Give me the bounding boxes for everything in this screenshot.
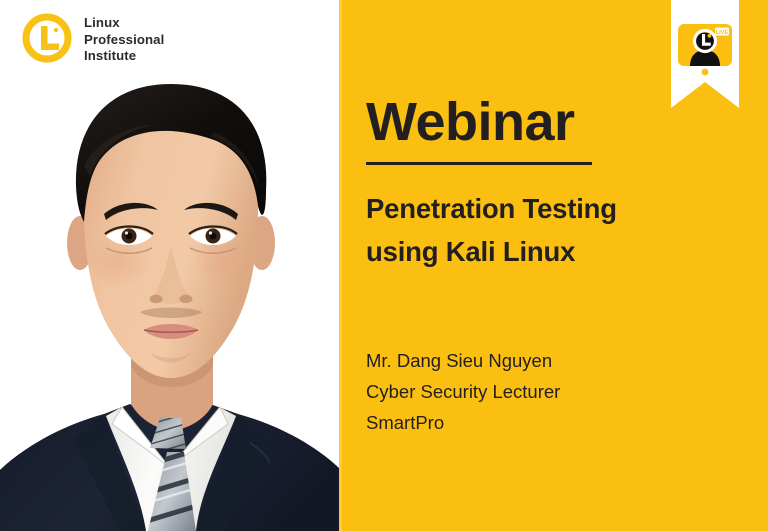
live-badge-label: LIVE: [716, 30, 729, 36]
brand-wordmark: Linux Professional Institute: [84, 15, 164, 65]
content-panel: LIVE Webinar Penetration Testing using K…: [339, 0, 768, 531]
brand-logo-block: Linux Professional Institute: [22, 13, 164, 65]
speaker-portrait-photo: [0, 0, 339, 531]
speaker-details: Mr. Dang Sieu Nguyen Cyber Security Lect…: [366, 345, 746, 438]
brand-line-3: Institute: [84, 48, 164, 65]
speaker-organization: SmartPro: [366, 407, 746, 438]
brand-line-1: Linux: [84, 15, 164, 32]
speaker-role: Cyber Security Lecturer: [366, 376, 746, 407]
page-title: Penetration Testing using Kali Linux: [366, 187, 716, 273]
speaker-name: Mr. Dang Sieu Nguyen: [366, 345, 746, 376]
portrait-panel: Linux Professional Institute: [0, 0, 339, 531]
panel-divider: [339, 0, 342, 531]
page-title-line-1: Penetration Testing: [366, 187, 716, 230]
lpi-circle-l-logo-icon: [22, 13, 72, 63]
brand-line-2: Professional: [84, 32, 164, 49]
page-title-line-2: using Kali Linux: [366, 230, 716, 273]
webinar-monitor-badge-icon: LIVE: [671, 0, 739, 108]
webinar-promo-poster: Linux Professional Institute LIVE: [0, 0, 768, 531]
title-divider-rule: [366, 162, 592, 165]
